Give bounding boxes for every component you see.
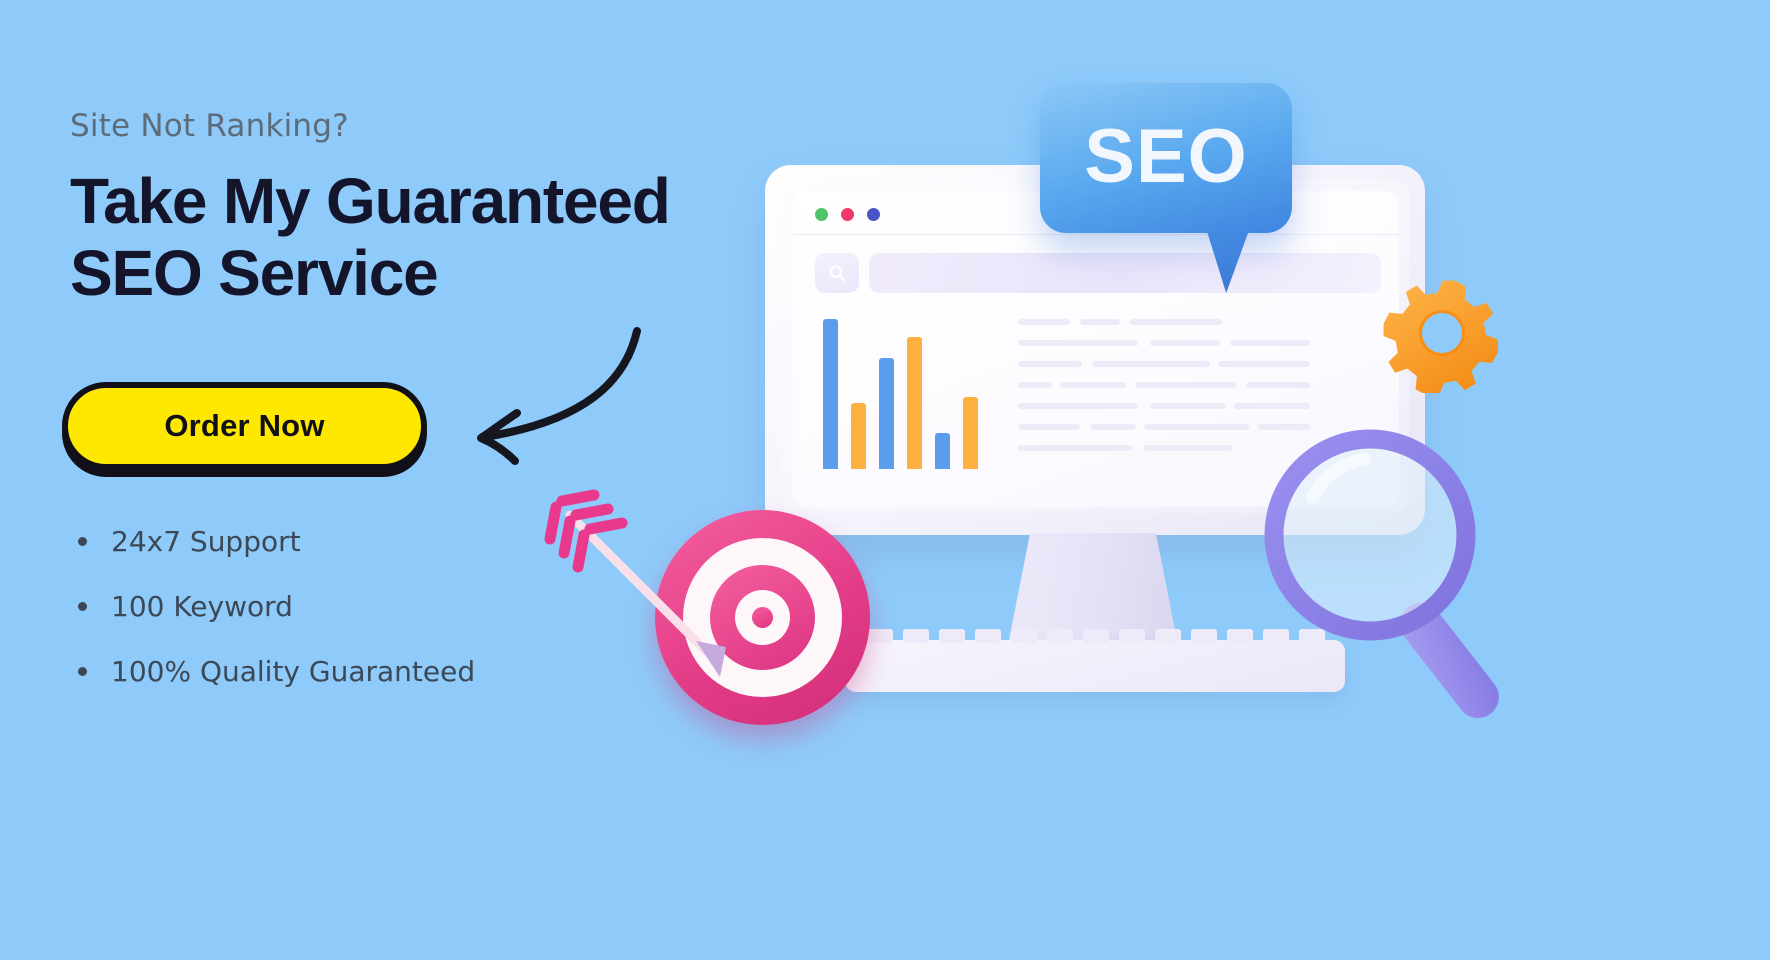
bar-chart: [823, 319, 993, 469]
curved-arrow-icon: [455, 325, 645, 465]
placeholder-line: [1018, 361, 1082, 367]
keyboard-key: [1227, 629, 1253, 643]
placeholder-line: [1018, 424, 1080, 430]
seo-badge: SEO: [1040, 83, 1292, 233]
keyboard-key: [903, 629, 929, 643]
list-item: 100 Keyword: [78, 590, 475, 623]
keyboard-key: [1155, 629, 1181, 643]
red-dot-icon: [841, 208, 854, 221]
placeholder-line: [1234, 403, 1310, 409]
magnifying-glass-icon: [1260, 425, 1530, 735]
feature-label: 100 Keyword: [111, 590, 293, 623]
chart-bar: [879, 358, 894, 469]
placeholder-line: [1090, 424, 1136, 430]
keyboard-key: [1083, 629, 1109, 643]
placeholder-line: [1130, 319, 1222, 325]
placeholder-line: [1018, 340, 1138, 346]
chart-bar: [907, 337, 922, 469]
chart-bar: [963, 397, 978, 469]
keyboard-key: [939, 629, 965, 643]
feature-label: 100% Quality Guaranteed: [111, 655, 475, 688]
keyboard-key: [1119, 629, 1145, 643]
list-item: 100% Quality Guaranteed: [78, 655, 475, 688]
placeholder-line: [1230, 340, 1310, 346]
placeholder-line: [1018, 382, 1052, 388]
placeholder-line: [1018, 403, 1138, 409]
gear-icon: [1382, 273, 1502, 393]
feature-list: 24x7 Support 100 Keyword 100% Quality Gu…: [78, 525, 475, 720]
bullet-dot-icon: [78, 602, 87, 611]
search-button[interactable]: [815, 253, 859, 293]
placeholder-line: [1144, 424, 1250, 430]
search-input[interactable]: [869, 253, 1381, 293]
placeholder-line: [1080, 319, 1120, 325]
placeholder-line: [1150, 340, 1220, 346]
seo-illustration: SEO: [620, 55, 1750, 795]
placeholder-line: [1136, 382, 1236, 388]
keyboard-key: [1047, 629, 1073, 643]
placeholder-line: [1018, 319, 1070, 325]
seo-badge-label: SEO: [1084, 113, 1248, 200]
headline-line-1: Take My Guaranteed: [70, 165, 670, 237]
placeholder-line: [1218, 361, 1310, 367]
placeholder-line: [1150, 403, 1226, 409]
chart-bar: [851, 403, 866, 469]
dart-arrow-icon: [510, 455, 810, 755]
chart-bar: [823, 319, 838, 469]
keyboard-key: [1191, 629, 1217, 643]
placeholder-line: [1092, 361, 1210, 367]
placeholder-line: [1246, 382, 1310, 388]
keyboard-key: [867, 629, 893, 643]
bullet-dot-icon: [78, 537, 87, 546]
placeholder-line: [1018, 445, 1132, 451]
keyboard-key: [975, 629, 1001, 643]
list-item: 24x7 Support: [78, 525, 475, 558]
search-icon: [827, 263, 847, 283]
blue-dot-icon: [867, 208, 880, 221]
bullet-dot-icon: [78, 667, 87, 676]
green-dot-icon: [815, 208, 828, 221]
banner-canvas: Site Not Ranking? Take My Guaranteed SEO…: [0, 0, 1770, 960]
chart-bar: [935, 433, 950, 469]
feature-label: 24x7 Support: [111, 525, 301, 558]
order-now-button[interactable]: Order Now: [62, 382, 427, 470]
placeholder-line: [1144, 445, 1232, 451]
cta-wrapper: Order Now: [62, 382, 427, 470]
placeholder-line: [1060, 382, 1126, 388]
browser-search-row: [815, 253, 1381, 293]
keyboard-key: [1011, 629, 1037, 643]
